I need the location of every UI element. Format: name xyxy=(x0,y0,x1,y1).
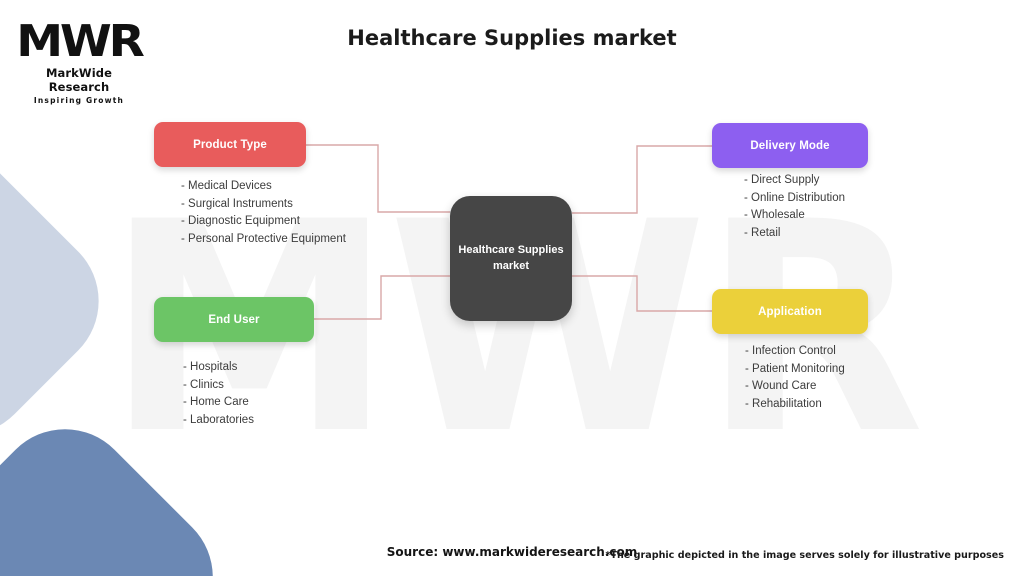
diagram-canvas: MWR MWR MarkWide Research Inspiring Grow… xyxy=(0,0,1024,576)
list-item: - Medical Devices xyxy=(181,178,346,196)
list-item: - Laboratories xyxy=(183,412,254,430)
branch-items-product-type: - Medical Devices - Surgical Instruments… xyxy=(181,178,346,248)
list-item: - Surgical Instruments xyxy=(181,196,346,214)
branch-node-delivery-mode[interactable]: Delivery Mode xyxy=(712,123,868,168)
list-item: - Patient Monitoring xyxy=(745,361,845,379)
list-item: - Hospitals xyxy=(183,359,254,377)
list-item: - Wholesale xyxy=(744,207,845,225)
list-item: - Clinics xyxy=(183,377,254,395)
list-item: - Wound Care xyxy=(745,378,845,396)
connector-application xyxy=(572,276,712,311)
branch-node-product-type[interactable]: Product Type xyxy=(154,122,306,167)
connector-delivery-mode xyxy=(572,146,712,213)
branch-items-application: - Infection Control - Patient Monitoring… xyxy=(745,343,845,413)
list-item: - Personal Protective Equipment xyxy=(181,231,346,249)
list-item: - Retail xyxy=(744,225,845,243)
branch-items-end-user: - Hospitals - Clinics - Home Care - Labo… xyxy=(183,359,254,429)
list-item: - Infection Control xyxy=(745,343,845,361)
list-item: - Direct Supply xyxy=(744,172,845,190)
disclaimer-label: *The graphic depicted in the image serve… xyxy=(605,550,1004,561)
list-item: - Rehabilitation xyxy=(745,396,845,414)
connector-end-user xyxy=(314,276,450,319)
center-node[interactable]: Healthcare Supplies market xyxy=(450,196,572,321)
branch-node-end-user[interactable]: End User xyxy=(154,297,314,342)
list-item: - Diagnostic Equipment xyxy=(181,213,346,231)
branch-items-delivery-mode: - Direct Supply - Online Distribution - … xyxy=(744,172,845,242)
list-item: - Online Distribution xyxy=(744,190,845,208)
branch-node-application[interactable]: Application xyxy=(712,289,868,334)
list-item: - Home Care xyxy=(183,394,254,412)
